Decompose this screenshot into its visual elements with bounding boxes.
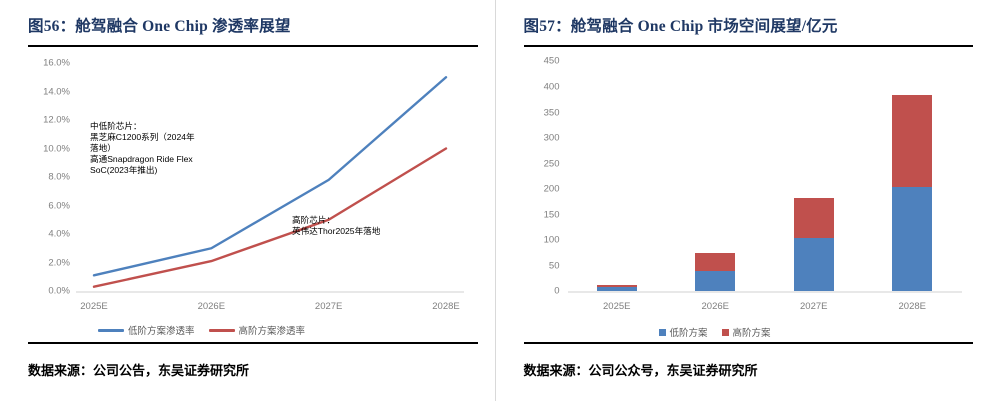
market-size-stacked-bar-chart: 0501001502002503003504004502025E2026E202… (524, 53, 974, 343)
bar-segment-high-2027E (794, 198, 834, 238)
line-series-svg (28, 53, 478, 343)
y-axis-tick-label: 300 (544, 133, 560, 144)
bar-segment-high-2025E (597, 285, 637, 287)
penetration-line-chart: 0.0%2.0%4.0%6.0%8.0%10.0%12.0%14.0%16.0%… (28, 53, 478, 343)
right-figure-panel: 图57：舱驾融合 One Chip 市场空间展望/亿元 050100150200… (496, 0, 991, 401)
right-figure-title: 图57：舱驾融合 One Chip 市场空间展望/亿元 (524, 0, 974, 36)
left-figure-title: 图56：舱驾融合 One Chip 渗透率展望 (28, 0, 478, 36)
right-footer-rule (524, 342, 974, 344)
bar-segment-low-2027E (794, 238, 834, 292)
line-chart-legend: 低阶方案渗透率高阶方案渗透率 (98, 323, 305, 337)
legend-item-high[interactable]: 高阶方案 (722, 325, 771, 339)
y-axis-tick-label: 400 (544, 81, 560, 92)
bar-segment-low-2028E (892, 187, 932, 292)
legend-label-low: 低阶方案渗透率 (128, 323, 195, 337)
legend-swatch-low (98, 329, 124, 332)
y-axis-tick-label: 350 (544, 107, 560, 118)
left-footer-rule (28, 342, 478, 344)
annotation-low-tier-chip: 中低阶芯片： 黑芝麻C1200系列（2024年 落地） 高通Snapdragon… (90, 121, 260, 176)
y-axis-tick-label: 150 (544, 209, 560, 220)
legend-label-low: 低阶方案 (670, 325, 708, 339)
x-axis-line (568, 291, 962, 293)
y-axis-tick-label: 0 (554, 286, 559, 297)
y-axis-tick-label: 450 (544, 56, 560, 67)
legend-swatch-high (722, 329, 729, 336)
legend-label-high: 高阶方案 (733, 325, 771, 339)
left-title-rule (28, 45, 478, 47)
x-axis-tick-label: 2027E (800, 301, 827, 312)
x-axis-tick-label: 2028E (899, 301, 926, 312)
legend-item-low[interactable]: 低阶方案渗透率 (98, 323, 195, 337)
left-source-note: 数据来源：公司公告，东吴证券研究所 (28, 360, 249, 379)
right-title-rule (524, 45, 974, 47)
right-source-note: 数据来源：公司公众号，东吴证券研究所 (524, 360, 758, 379)
line-plot-area: 0.0%2.0%4.0%6.0%8.0%10.0%12.0%14.0%16.0%… (28, 53, 478, 343)
legend-item-low[interactable]: 低阶方案 (659, 325, 708, 339)
bar-segment-high-2028E (892, 95, 932, 187)
legend-item-high[interactable]: 高阶方案渗透率 (209, 323, 306, 337)
legend-label-high: 高阶方案渗透率 (239, 323, 306, 337)
bar-segment-low-2025E (597, 287, 637, 291)
y-axis-tick-label: 200 (544, 184, 560, 195)
x-axis-tick-label: 2026E (702, 301, 729, 312)
y-axis-tick-label: 50 (549, 260, 560, 271)
y-axis-tick-label: 100 (544, 235, 560, 246)
annotation-high-tier-chip: 高阶芯片： 英伟达Thor2025年落地 (292, 215, 462, 237)
left-figure-panel: 图56：舱驾融合 One Chip 渗透率展望 0.0%2.0%4.0%6.0%… (0, 0, 496, 401)
line-series-low (94, 78, 446, 276)
x-axis-tick-label: 2025E (603, 301, 630, 312)
figure-pair-page: 图56：舱驾融合 One Chip 渗透率展望 0.0%2.0%4.0%6.0%… (0, 0, 991, 401)
bar-plot-area: 0501001502002503003504004502025E2026E202… (524, 53, 974, 343)
legend-swatch-low (659, 329, 666, 336)
legend-swatch-high (209, 329, 235, 332)
bar-segment-low-2026E (695, 271, 735, 291)
bar-chart-legend: 低阶方案高阶方案 (659, 325, 771, 339)
bar-segment-high-2026E (695, 253, 735, 271)
y-axis-tick-label: 250 (544, 158, 560, 169)
